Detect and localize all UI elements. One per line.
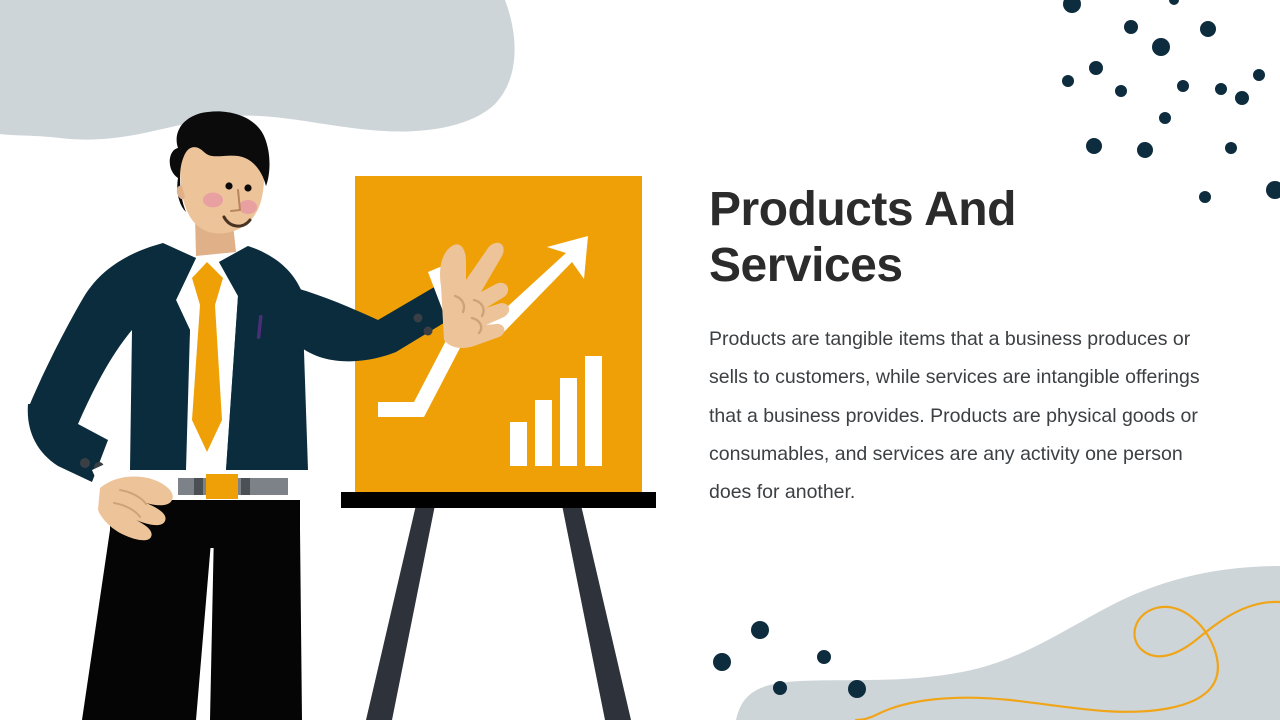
bar-4 [585,356,602,466]
black-trousers [82,500,302,720]
page-title: Products And Services [709,182,1089,294]
eye-right [244,184,251,191]
bar-2 [535,400,552,466]
presentation-slide: Products And Services Products are tangi… [0,0,1280,720]
cheek-left [203,193,223,208]
text-column: Products And Services Products are tangi… [709,182,1209,511]
belt-segment-dark-2 [241,478,250,495]
belt-segment-dark-1 [194,478,203,495]
eye-left [225,182,232,189]
belt-buckle [206,474,238,499]
navy-suit-left-body [28,243,196,482]
easel-legs [366,505,631,720]
body-paragraph: Products are tangible items that a busin… [709,294,1201,511]
cheek-right [239,200,257,214]
easel-tray [341,492,656,508]
bar-1 [510,422,527,466]
bar-3 [560,378,577,466]
